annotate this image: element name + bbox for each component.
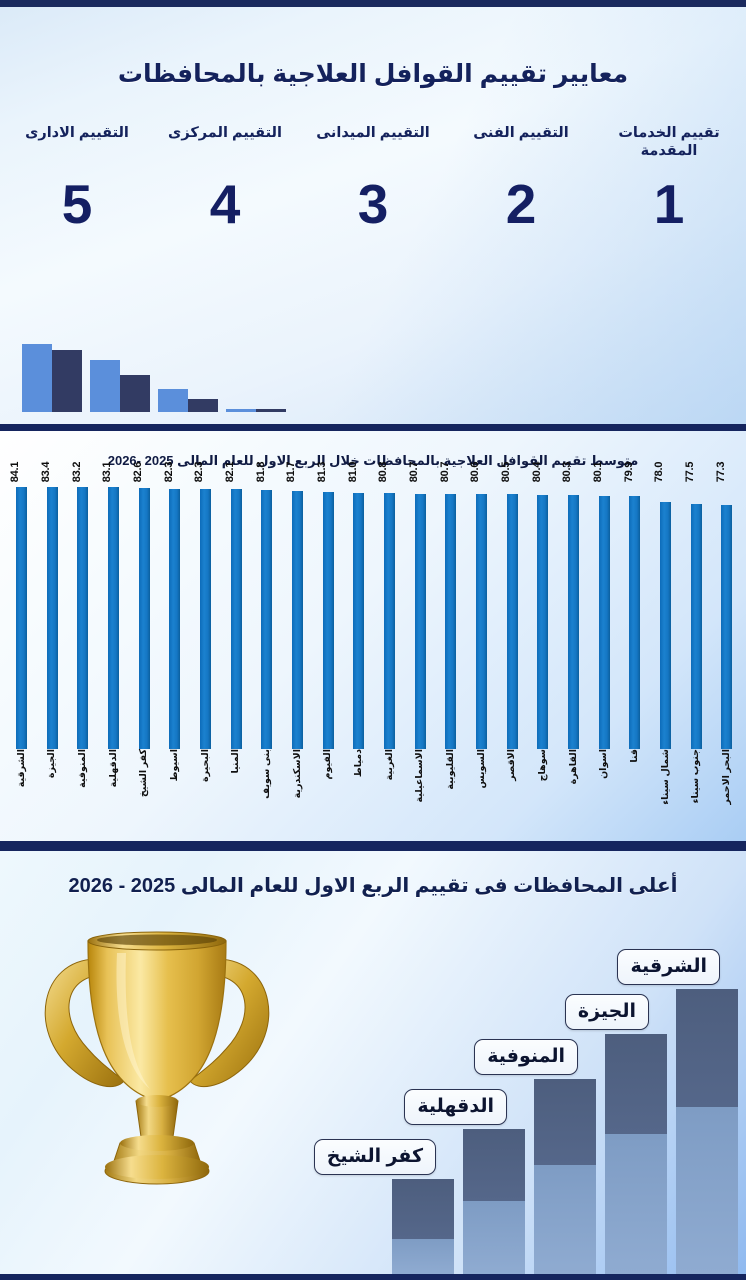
axis-tick-label: دمياط [354, 749, 364, 777]
bar: 83.4 [47, 487, 58, 749]
axis-tick-label: كفر الشيخ [139, 749, 149, 797]
bar-value-label: 80.1 [592, 462, 604, 483]
bar-slot: 81.3 [313, 487, 344, 749]
axis-tick-label: الفيوم [323, 749, 333, 779]
bar-slot: 79.9 [619, 487, 650, 749]
bar: 80.6 [476, 494, 487, 749]
axis-tick: القاهرة [558, 749, 589, 835]
bar-slot: 80.5 [497, 487, 528, 749]
top-governorates-step-chart: كفر الشيخالدقهليةالمنوفيةالجيزةالشرقية [338, 984, 738, 1274]
step-column: الشرقية [676, 989, 738, 1274]
bar: 83.2 [77, 487, 88, 749]
mini-bar-dark [120, 375, 150, 412]
bar-slot: 84.1 [6, 487, 37, 749]
step-column: الجيزة [605, 1034, 667, 1274]
axis-tick: قنا [619, 749, 650, 835]
axis-tick-label: جنوب سيناء [691, 749, 701, 803]
bar: 81.8 [261, 490, 272, 749]
bar-value-label: 81.0 [347, 462, 359, 483]
bar-slot: 80.8 [374, 487, 405, 749]
axis-tick-label: القاهرة [569, 749, 579, 784]
bar: 80.4 [537, 495, 548, 749]
step-column: المنوفية [534, 1079, 596, 1274]
mini-bar-light [158, 389, 188, 412]
bar: 79.9 [629, 496, 640, 749]
criteria-item-1-label: تقييم الخدمات المقدمة [600, 125, 738, 163]
bar-slot: 81.0 [343, 487, 374, 749]
axis-tick: كفر الشيخ [129, 749, 160, 835]
axis-tick-label: البحر الاحمر [722, 749, 732, 805]
axis-tick-label: المنيا [231, 749, 241, 774]
infographic-root: معايير تقييم القوافل العلاجية بالمحافظات… [0, 0, 746, 1280]
bar-value-label: 82.1 [224, 462, 236, 483]
step-segment-top [605, 1034, 667, 1134]
bar: 80.5 [507, 494, 518, 749]
bar-slot: 78.0 [650, 487, 681, 749]
axis-tick-label: الشرقية [17, 749, 27, 787]
top-panel-title: أعلى المحافظات فى تقييم الربع الاول للعا… [0, 873, 746, 898]
bar-slot: 82.1 [221, 487, 252, 749]
axis-tick-label: بنى سويف [262, 749, 272, 799]
bar: 78.0 [660, 502, 671, 749]
trophy-icon [12, 921, 302, 1221]
bar-slot: 77.5 [681, 487, 712, 749]
bar: 81.3 [323, 492, 334, 749]
step-label-tag: الجيزة [565, 994, 649, 1030]
criteria-item-4: التقييم المركزى 4 [156, 125, 294, 232]
bar: 82.3 [200, 489, 211, 749]
axis-tick: القليوبية [435, 749, 466, 835]
axis-tick: اسيوط [159, 749, 190, 835]
bar-slot: 82.3 [190, 487, 221, 749]
criteria-item-5-label: التقييم الادارى [8, 125, 146, 163]
criteria-panel-title: معايير تقييم القوافل العلاجية بالمحافظات [0, 59, 746, 89]
bar-value-label: 78.0 [653, 462, 665, 483]
bar-slot: 80.6 [466, 487, 497, 749]
criteria-item-3-label: التقييم الميدانى [304, 125, 442, 163]
axis-tick: بنى سويف [251, 749, 282, 835]
mini-bar-pair [90, 360, 150, 412]
axis-tick-label: الاسكندرية [293, 749, 303, 798]
criteria-panel: معايير تقييم القوافل العلاجية بالمحافظات… [0, 0, 746, 424]
step-segment-top [463, 1129, 525, 1201]
axis-tick: الغربية [374, 749, 405, 835]
criteria-item-1: تقييم الخدمات المقدمة 1 [600, 125, 738, 232]
bar-value-label: 80.3 [561, 462, 573, 483]
chart-x-axis: الشرقيةالجيزةالمنوفيةالدقهليةكفر الشيخاس… [6, 749, 742, 835]
criteria-list: التقييم الادارى 5 التقييم المركزى 4 التق… [8, 125, 738, 232]
axis-tick-label: قنا [630, 749, 640, 763]
axis-tick-label: سوهاج [538, 749, 548, 781]
criteria-item-5-number: 5 [8, 177, 146, 232]
bar: 82.6 [139, 488, 150, 749]
bar-slot: 80.4 [527, 487, 558, 749]
criteria-item-3: التقييم الميدانى 3 [304, 125, 442, 232]
step-label-tag: الشرقية [617, 949, 720, 985]
step-column: كفر الشيخ [392, 1179, 454, 1274]
axis-tick: جنوب سيناء [681, 749, 712, 835]
bar: 81.7 [292, 491, 303, 749]
mini-bar-pair [158, 389, 218, 412]
average-rating-bar-chart-panel: متوسط تقييم القوافل العلاجية بالمحافظات … [0, 424, 746, 844]
axis-tick: البحيرة [190, 749, 221, 835]
bar-value-label: 83.1 [101, 462, 113, 483]
bar-value-label: 79.9 [623, 462, 635, 483]
axis-tick-label: الاسماعيلية [415, 749, 425, 803]
bar-value-label: 81.8 [255, 462, 267, 483]
bar-value-label: 80.7 [408, 462, 420, 483]
axis-tick: سوهاج [527, 749, 558, 835]
axis-tick: الاسماعيلية [405, 749, 436, 835]
bar: 82.3 [169, 489, 180, 749]
axis-tick-label: اسوان [599, 749, 609, 779]
criteria-item-4-label: التقييم المركزى [156, 125, 294, 163]
bar-slot: 80.7 [435, 487, 466, 749]
mini-bar-light [90, 360, 120, 412]
bar-value-label: 84.1 [9, 462, 21, 483]
bar: 83.1 [108, 487, 119, 749]
axis-tick-label: الدقهلية [109, 749, 119, 787]
step-label-tag: الدقهلية [404, 1089, 507, 1125]
axis-tick: دمياط [343, 749, 374, 835]
mini-bar-light [226, 409, 256, 412]
axis-tick: الفيوم [313, 749, 344, 835]
bar: 81.0 [353, 493, 364, 749]
bar: 82.1 [231, 489, 242, 749]
axis-tick: البحر الاحمر [711, 749, 742, 835]
axis-tick-label: الغربية [385, 749, 395, 780]
step-segment-bottom [392, 1239, 454, 1274]
bar-slot: 80.3 [558, 487, 589, 749]
step-segment-top [392, 1179, 454, 1239]
bar-value-label: 82.3 [163, 462, 175, 483]
axis-tick-label: الجيزة [47, 749, 57, 778]
step-segment-top [676, 989, 738, 1107]
bar-value-label: 80.8 [377, 462, 389, 483]
bar-slot: 77.3 [711, 487, 742, 749]
axis-tick: اسوان [589, 749, 620, 835]
bar: 80.8 [384, 493, 395, 749]
criteria-item-4-number: 4 [156, 177, 294, 232]
bar-slot: 83.4 [37, 487, 68, 749]
mini-bar-dark [188, 399, 218, 412]
axis-tick-label: الاقصر [507, 749, 517, 781]
axis-tick: الجيزة [37, 749, 68, 835]
bar-slot: 81.8 [251, 487, 282, 749]
bar: 84.1 [16, 487, 27, 749]
step-segment-bottom [676, 1107, 738, 1274]
chart-plot-area: 84.183.483.283.182.682.382.382.181.881.7… [6, 487, 742, 749]
criteria-item-3-number: 3 [304, 177, 442, 232]
bar-slot: 81.7 [282, 487, 313, 749]
top-governorates-panel: أعلى المحافظات فى تقييم الربع الاول للعا… [0, 844, 746, 1280]
bar-value-label: 80.6 [469, 462, 481, 483]
bar-value-label: 83.4 [40, 462, 52, 483]
axis-tick-label: المنوفية [78, 749, 88, 788]
axis-tick-label: القليوبية [446, 749, 456, 790]
bar: 77.5 [691, 504, 702, 749]
bar-value-label: 80.7 [439, 462, 451, 483]
axis-tick-label: البحيرة [201, 749, 211, 782]
bar-value-label: 80.5 [500, 462, 512, 483]
decorative-mini-bar-chart [22, 287, 272, 412]
axis-tick: المنيا [221, 749, 252, 835]
axis-tick-label: اسيوط [170, 749, 180, 781]
mini-bar-dark [52, 350, 82, 412]
bar: 80.7 [415, 494, 426, 749]
axis-tick: الشرقية [6, 749, 37, 835]
bar: 80.1 [599, 496, 610, 749]
mini-bar-light [22, 344, 52, 412]
criteria-item-1-number: 1 [600, 177, 738, 232]
bar-slot: 80.7 [405, 487, 436, 749]
bar-value-label: 77.3 [715, 462, 727, 483]
bar: 80.7 [445, 494, 456, 749]
step-column: الدقهلية [463, 1129, 525, 1274]
criteria-item-5: التقييم الادارى 5 [8, 125, 146, 232]
bar-value-label: 82.3 [193, 462, 205, 483]
criteria-item-2-label: التقييم الفنى [452, 125, 590, 163]
step-segment-bottom [463, 1201, 525, 1274]
bar: 80.3 [568, 495, 579, 749]
bar-slot: 80.1 [589, 487, 620, 749]
axis-tick-label: السويس [477, 749, 487, 788]
bar-slot: 83.2 [67, 487, 98, 749]
axis-tick: المنوفية [67, 749, 98, 835]
mini-bar-pair [226, 409, 286, 412]
mini-bar-pair [22, 344, 82, 412]
axis-tick: الاسكندرية [282, 749, 313, 835]
bar-value-label: 77.5 [684, 462, 696, 483]
axis-tick: السويس [466, 749, 497, 835]
bar-value-label: 80.4 [531, 462, 543, 483]
axis-tick: شمال سيناء [650, 749, 681, 835]
step-segment-bottom [605, 1134, 667, 1274]
mini-bar-dark [256, 409, 286, 412]
bar-slot: 82.3 [159, 487, 190, 749]
bar-slot: 83.1 [98, 487, 129, 749]
step-segment-top [534, 1079, 596, 1165]
bar: 77.3 [721, 505, 732, 749]
axis-tick: الدقهلية [98, 749, 129, 835]
step-segment-bottom [534, 1165, 596, 1274]
bar-slot: 82.6 [129, 487, 160, 749]
step-label-tag: المنوفية [474, 1039, 578, 1075]
bar-value-label: 83.2 [71, 462, 83, 483]
bar-value-label: 81.3 [316, 462, 328, 483]
axis-tick: الاقصر [497, 749, 528, 835]
bar-value-label: 81.7 [285, 462, 297, 483]
axis-tick-label: شمال سيناء [661, 749, 671, 805]
criteria-item-2: التقييم الفنى 2 [452, 125, 590, 232]
bar-value-label: 82.6 [132, 462, 144, 483]
criteria-item-2-number: 2 [452, 177, 590, 232]
step-label-tag: كفر الشيخ [314, 1139, 436, 1175]
